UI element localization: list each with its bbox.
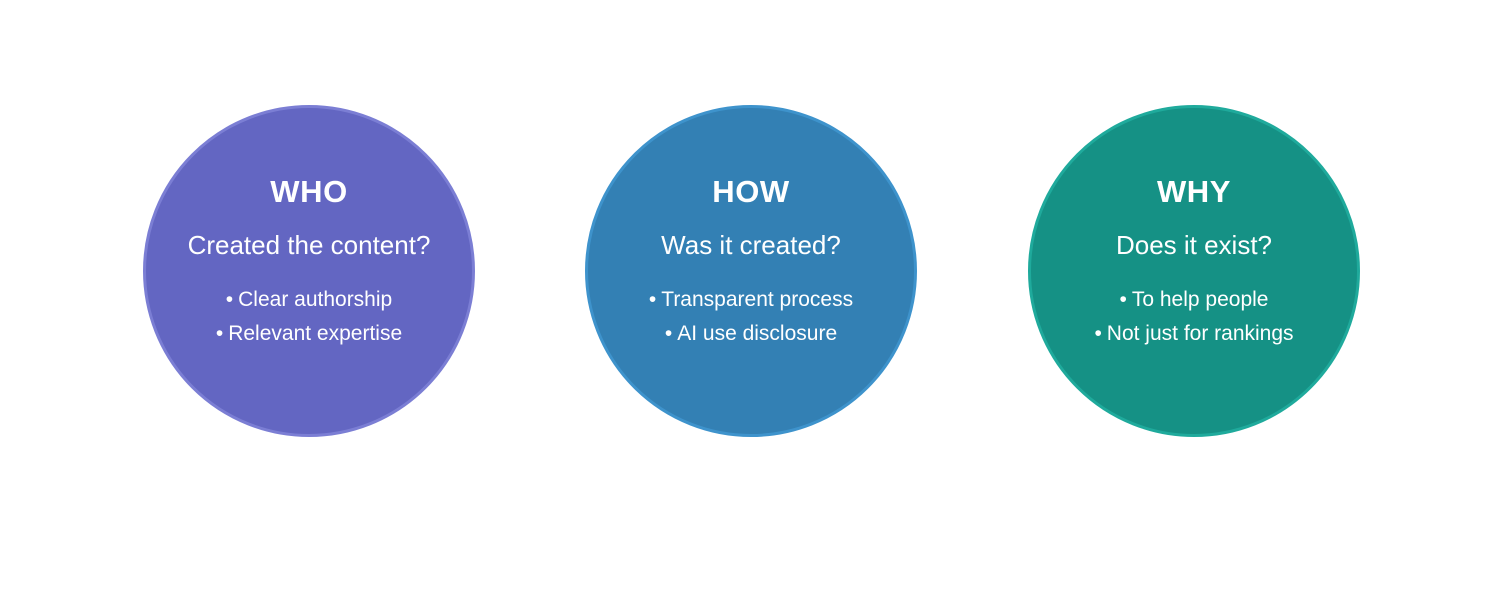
circle-content-who: WHO Created the content? •Clear authorsh… <box>146 108 472 351</box>
bullet-text: Transparent process <box>661 288 853 311</box>
bullet-list-why: •To help people •Not just for rankings <box>1037 283 1351 351</box>
diagram-canvas: WHO Created the content? •Clear authorsh… <box>0 0 1500 600</box>
circle-subtitle-how: Was it created? <box>594 231 908 261</box>
circle-title-how: HOW <box>594 176 908 207</box>
list-item: •Clear authorship <box>152 283 466 317</box>
list-item: •Not just for rankings <box>1037 317 1351 351</box>
concept-circle-why[interactable]: WHY Does it exist? •To help people •Not … <box>1028 105 1360 437</box>
concept-circle-how[interactable]: HOW Was it created? •Transparent process… <box>585 105 917 437</box>
bullet-text: Clear authorship <box>238 288 392 311</box>
concept-circle-who[interactable]: WHO Created the content? •Clear authorsh… <box>143 105 475 437</box>
bullet-list-who: •Clear authorship •Relevant expertise <box>152 283 466 351</box>
bullet-dot-icon: • <box>226 283 233 317</box>
circle-content-why: WHY Does it exist? •To help people •Not … <box>1031 108 1357 351</box>
bullet-dot-icon: • <box>1094 317 1101 351</box>
bullet-text: Relevant expertise <box>228 322 402 345</box>
circle-title-why: WHY <box>1037 176 1351 207</box>
bullet-dot-icon: • <box>649 283 656 317</box>
circle-subtitle-who: Created the content? <box>152 231 466 261</box>
bullet-text: AI use disclosure <box>677 322 837 345</box>
bullet-dot-icon: • <box>1120 283 1127 317</box>
circle-title-who: WHO <box>152 176 466 207</box>
circle-content-how: HOW Was it created? •Transparent process… <box>588 108 914 351</box>
bullet-text: To help people <box>1132 288 1269 311</box>
bullet-dot-icon: • <box>665 317 672 351</box>
bullet-list-how: •Transparent process •AI use disclosure <box>594 283 908 351</box>
bullet-text: Not just for rankings <box>1107 322 1294 345</box>
circle-subtitle-why: Does it exist? <box>1037 231 1351 261</box>
bullet-dot-icon: • <box>216 317 223 351</box>
list-item: •Relevant expertise <box>152 317 466 351</box>
list-item: •AI use disclosure <box>594 317 908 351</box>
list-item: •Transparent process <box>594 283 908 317</box>
list-item: •To help people <box>1037 283 1351 317</box>
